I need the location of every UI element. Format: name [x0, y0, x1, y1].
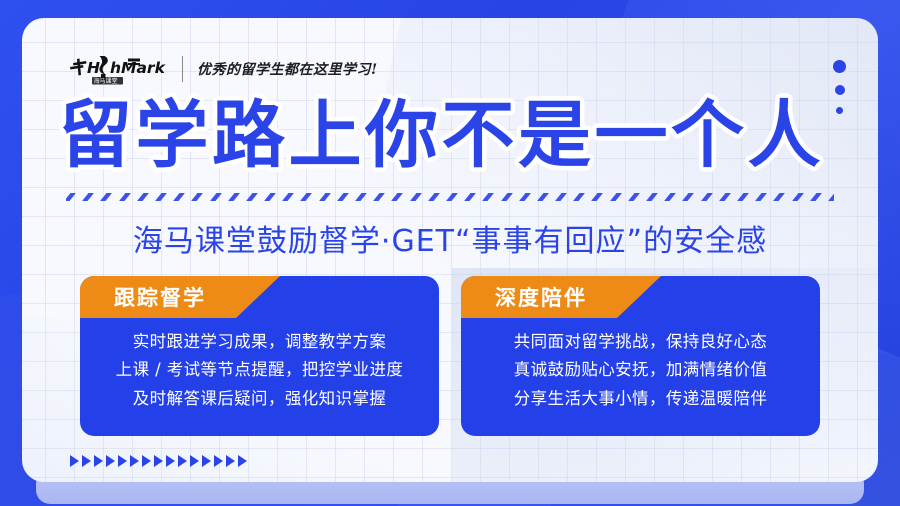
slash-mark: [519, 193, 531, 201]
arrow-marker: [166, 455, 175, 467]
feature-card-line: 共同面对留学挑战，保持良好心态: [479, 328, 802, 356]
slash-mark: [664, 193, 676, 201]
slash-mark: [719, 193, 731, 201]
arrow-marker: [226, 455, 235, 467]
content-card: H hMark 海马课堂 优秀的留学生都在这里学习!: [22, 18, 878, 482]
feature-card[interactable]: 深度陪伴 共同面对留学挑战，保持良好心态 真诚鼓励贴心安抚，加满情绪价值 分享生…: [461, 276, 820, 436]
feature-card-badge-label: 跟踪督学: [114, 282, 206, 312]
feature-card-badge: 深度陪伴: [461, 276, 661, 318]
arrow-marker: [202, 455, 211, 467]
slash-mark: [155, 193, 167, 201]
slash-mark: [810, 193, 822, 201]
slash-mark: [828, 193, 834, 201]
slash-mark: [792, 193, 804, 201]
page-subtitle: 海马课堂鼓励督学·GET“事事有回应”的安全感: [22, 216, 878, 260]
arrow-marker: [106, 455, 115, 467]
slash-mark: [210, 193, 222, 201]
svg-text:hMark: hMark: [110, 59, 167, 77]
feature-card-badge: 跟踪督学: [80, 276, 280, 318]
highmark-logo: H hMark 海马课堂: [68, 52, 168, 86]
arrow-marker: [70, 455, 79, 467]
slash-mark: [646, 193, 658, 201]
corner-dots: [833, 60, 846, 114]
slash-mark: [610, 193, 622, 201]
slash-mark: [682, 193, 694, 201]
brand-divider: [182, 56, 183, 82]
slash-mark: [591, 193, 603, 201]
svg-text:H: H: [87, 59, 100, 77]
slash-mark: [355, 193, 367, 201]
dot-small: [836, 107, 843, 114]
slash-mark: [100, 193, 112, 201]
slash-mark: [773, 193, 785, 201]
slash-mark: [755, 193, 767, 201]
svg-text:海马课堂: 海马课堂: [94, 77, 118, 85]
feature-card-line: 分享生活大事小情，传递温暖陪伴: [479, 385, 802, 413]
feature-card-line: 真诚鼓励贴心安抚，加满情绪价值: [479, 356, 802, 384]
arrow-marker: [82, 455, 91, 467]
slash-mark: [191, 193, 203, 201]
slash-mark: [300, 193, 312, 201]
feature-card-badge-label: 深度陪伴: [495, 282, 587, 312]
slash-mark: [537, 193, 549, 201]
slash-mark: [228, 193, 240, 201]
slash-mark: [628, 193, 640, 201]
feature-card-line: 上课 / 考试等节点提醒，把控学业进度: [98, 356, 421, 384]
feature-card[interactable]: 跟踪督学 实时跟进学习成果，调整教学方案 上课 / 考试等节点提醒，把控学业进度…: [80, 276, 439, 436]
headline-fill: 留学路上你不是一个人: [59, 93, 824, 178]
slash-mark: [337, 193, 349, 201]
slash-mark: [282, 193, 294, 201]
slash-mark: [173, 193, 185, 201]
slash-mark: [701, 193, 713, 201]
slash-mark: [428, 193, 440, 201]
dot-large: [833, 60, 846, 73]
arrow-decoration: [70, 455, 247, 467]
arrow-marker: [178, 455, 187, 467]
arrow-marker: [130, 455, 139, 467]
feature-card-body: 实时跟进学习成果，调整教学方案 上课 / 考试等节点提醒，把控学业进度 及时解答…: [80, 328, 439, 413]
slash-mark: [246, 193, 258, 201]
slash-mark: [464, 193, 476, 201]
slash-mark: [66, 193, 76, 201]
brand-row: H hMark 海马课堂 优秀的留学生都在这里学习!: [68, 52, 378, 86]
brand-tagline: 优秀的留学生都在这里学习!: [197, 59, 378, 79]
poster-root: H hMark 海马课堂 优秀的留学生都在这里学习!: [0, 0, 900, 506]
feature-card-list: 跟踪督学 实时跟进学习成果，调整教学方案 上课 / 考试等节点提醒，把控学业进度…: [80, 276, 820, 436]
arrow-marker: [190, 455, 199, 467]
arrow-marker: [94, 455, 103, 467]
feature-card-body: 共同面对留学挑战，保持良好心态 真诚鼓励贴心安抚，加满情绪价值 分享生活大事小情…: [461, 328, 820, 413]
slash-mark: [319, 193, 331, 201]
arrow-marker: [238, 455, 247, 467]
slash-mark: [373, 193, 385, 201]
arrow-marker: [142, 455, 151, 467]
slash-divider: [66, 190, 834, 204]
feature-card-line: 及时解答课后疑问，强化知识掌握: [98, 385, 421, 413]
slash-mark: [501, 193, 513, 201]
slash-mark: [555, 193, 567, 201]
slash-mark: [82, 193, 94, 201]
dot-medium: [835, 85, 845, 95]
arrow-marker: [154, 455, 163, 467]
slash-mark: [410, 193, 422, 201]
slash-mark: [264, 193, 276, 201]
page-title: 留学路上你不是一个人 留学路上你不是一个人: [55, 92, 855, 178]
slash-mark: [737, 193, 749, 201]
arrow-marker: [118, 455, 127, 467]
feature-card-line: 实时跟进学习成果，调整教学方案: [98, 328, 421, 356]
slash-mark: [482, 193, 494, 201]
slash-mark: [573, 193, 585, 201]
slash-mark: [446, 193, 458, 201]
slash-mark: [119, 193, 131, 201]
slash-mark: [391, 193, 403, 201]
slash-mark: [137, 193, 149, 201]
arrow-marker: [214, 455, 223, 467]
